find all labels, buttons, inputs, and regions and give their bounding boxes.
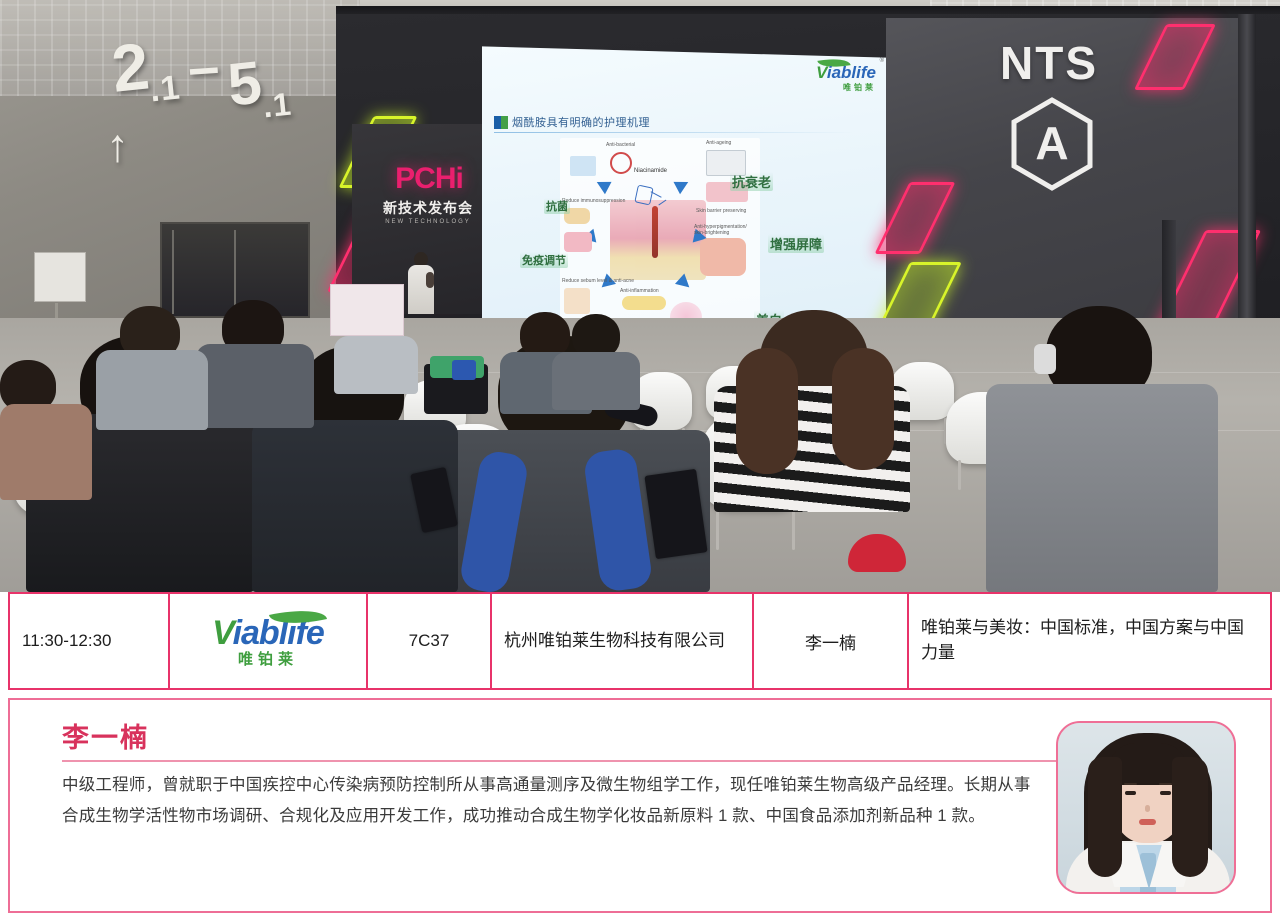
pchi-logo: PCHi <box>374 162 484 196</box>
mini-illustration-melanocyte <box>700 238 746 276</box>
hall-sign-right-number: 5 <box>225 47 266 119</box>
mini-illustration-sebum <box>564 288 590 314</box>
slide-label-en-antibacterial: Anti-bacterial <box>606 142 635 148</box>
viablife-logo: Viablife 唯铂莱 <box>212 613 324 668</box>
niacinamide-molecule-graphic <box>620 178 662 218</box>
cell-topic: 唯铂莱与美妆：中国标准，中国方案与中国力量 <box>909 594 1270 688</box>
session-photo: 2.1–5.1 ↑ PCHi 新技术发布会 NEW TECHNOLOGY ® <box>0 0 1280 592</box>
nts-logo-text: NTS <box>1000 36 1098 90</box>
hall-sign-dash: – <box>186 33 223 100</box>
logo-letter-v: V <box>212 614 232 652</box>
bio-divider <box>62 760 1112 762</box>
hall-sign-right-decimal: .1 <box>261 86 293 126</box>
cell-company-logo: Viablife 唯铂莱 <box>170 594 368 688</box>
slide-label-en-barrier: Skin barrier preserving <box>696 208 746 214</box>
booth-display <box>330 284 404 336</box>
slide-label-en-sebum: Reduce sebum level & anti-acne <box>562 278 634 284</box>
mini-illustration-inflammation <box>622 296 666 310</box>
cell-time: 11:30-12:30 <box>10 594 170 688</box>
slide-label-cn-immune: 免疫调节 <box>520 252 568 268</box>
slide-brand-cn: 唯铂莱 <box>816 82 876 93</box>
speaker-bio-text: 中级工程师，曾就职于中国疾控中心传染病预防控制所从事高通量测序及微生物组学工作，… <box>62 770 1037 831</box>
slide-brand-logo: Viablife 唯铂莱 <box>816 64 876 93</box>
mini-illustration-antibacterial <box>570 156 596 176</box>
slide-label-en-immune: Reduce immunosuppression <box>562 198 625 204</box>
slide-title: 烟酰胺具有明确的护理机理 <box>512 114 650 130</box>
no-bacteria-icon <box>610 152 632 174</box>
speaker-name-heading: 李一楠 <box>62 716 149 755</box>
stage-presenter <box>406 252 436 314</box>
registered-trademark-icon: ® <box>880 58 884 64</box>
speaker-bio-panel: 李一楠 中级工程师，曾就职于中国疾控中心传染病预防控制所从事高通量测序及微生物组… <box>8 698 1272 913</box>
whiteboard <box>34 252 86 302</box>
slide-label-cn-barrier: 增强屏障 <box>768 234 824 253</box>
nts-hex-letter: A <box>1008 116 1096 170</box>
pchi-english-subtitle: NEW TECHNOLOGY <box>362 219 494 225</box>
slide-label-en-antiinflammation: Anti-inflammation <box>620 288 659 294</box>
slide-diagram: Anti-bacterial Anti-ageing Reduce immuno… <box>560 138 760 338</box>
conference-session-card: 2.1–5.1 ↑ PCHi 新技术发布会 NEW TECHNOLOGY ® <box>0 0 1280 921</box>
slide-label-en-antiageing: Anti-ageing <box>706 140 731 146</box>
up-arrow-icon: ↑ <box>106 122 146 168</box>
hall-number-sign: 2.1–5.1 <box>112 34 352 174</box>
session-table-row: 11:30-12:30 Viablife 唯铂莱 7C37 杭州唯铂莱生物科技有… <box>8 592 1272 690</box>
bag-contents <box>452 360 476 380</box>
slide-label-cn-antibacterial: 抗菌 <box>544 198 570 214</box>
speaker-portrait <box>1056 721 1236 894</box>
slide-title-rule <box>494 132 854 133</box>
cell-booth-number: 7C37 <box>368 594 492 688</box>
arrow-icon-upleft <box>593 176 611 194</box>
mini-illustration-cells <box>564 232 592 252</box>
slide-label-en-brightening: Anti-hyperpigmentation/ skin-brightening <box>694 224 752 236</box>
slide-label-niacinamide: Niacinamide <box>634 168 667 174</box>
slide-brand-v: V <box>816 63 827 82</box>
stage-pillar-right <box>1238 14 1256 354</box>
pchi-subtitle: 新技术发布会 <box>362 198 494 218</box>
slide-brand-rest: iablife <box>827 63 876 82</box>
slide-label-cn-antiageing: 抗衰老 <box>730 172 773 191</box>
cell-company-name: 杭州唯铂莱生物科技有限公司 <box>492 594 754 688</box>
hall-sign-left-number: 2 <box>109 32 153 102</box>
hall-sign-left-decimal: .1 <box>148 69 182 111</box>
slide-title-marker-icon <box>494 116 508 129</box>
face-mask <box>1034 344 1056 374</box>
cell-speaker-name: 李一楠 <box>754 594 909 688</box>
arrow-icon-upright <box>673 176 691 194</box>
